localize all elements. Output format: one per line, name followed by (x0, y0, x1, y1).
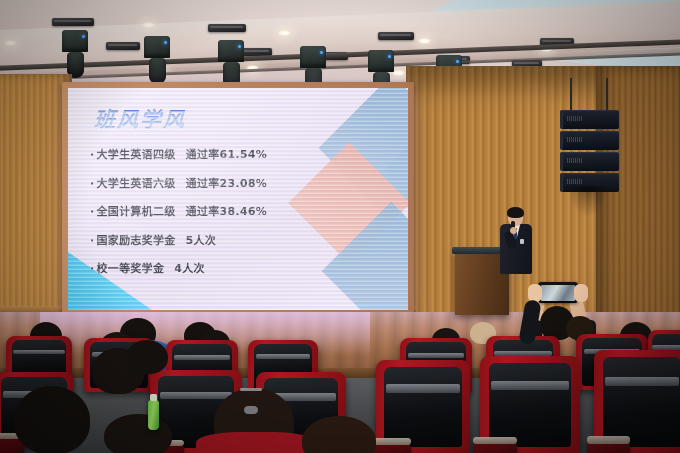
audience-shoulders-foreground (196, 432, 316, 453)
bottle-cap (150, 394, 157, 401)
bullet-label: 国家励志奖学金 (96, 234, 175, 247)
list-item: ·国家励志奖学金5人次 (90, 232, 360, 248)
smartphone-icon (538, 282, 578, 303)
bullet-label: 全国计算机二级 (96, 205, 175, 218)
ceiling-fixture-icon (106, 42, 140, 50)
filmer-hand-right (574, 284, 588, 302)
auditorium-seat (480, 356, 580, 453)
line-array-speaker (560, 78, 620, 188)
speaker-box (560, 110, 619, 129)
bullet-label: 校一等奖学金 (96, 262, 164, 275)
ceiling-fixture-icon (378, 32, 414, 40)
bullet-value: 通过率23.08% (186, 177, 268, 190)
downlight-icon (278, 30, 291, 36)
list-item: ·大学生英语六级通过率23.08% (90, 175, 360, 191)
presentation-slide: 班风学风 ·大学生英语四级通过率61.54% ·大学生英语六级通过率23.08%… (68, 88, 408, 310)
audience-person-foreground (14, 386, 90, 453)
list-item: ·大学生英语四级通过率61.54% (90, 146, 360, 162)
audience-person-foreground (104, 414, 172, 453)
bullet-marker: · (90, 262, 94, 275)
bullet-marker: · (90, 148, 94, 161)
bullet-marker: · (90, 177, 94, 190)
green-water-bottle (148, 400, 159, 430)
moving-head-light-icon (62, 30, 88, 78)
speaker-cable (570, 78, 572, 112)
phone-screen (541, 285, 575, 301)
bullet-value: 5人次 (186, 234, 217, 247)
speaker-box (560, 131, 619, 150)
bullet-value: 通过率38.46% (186, 205, 268, 218)
auditorium-photo: 班风学风 ·大学生英语四级通过率61.54% ·大学生英语六级通过率23.08%… (0, 0, 680, 453)
bullet-value: 通过率61.54% (186, 148, 268, 161)
slide-title: 班风学风 (94, 104, 186, 134)
downlight-icon (418, 38, 431, 44)
speaker-shadow (568, 186, 608, 216)
slide-content: 班风学风 ·大学生英语四级通过率61.54% ·大学生英语六级通过率23.08%… (68, 88, 408, 310)
presenter-hair (507, 207, 524, 218)
ceiling-fixture-icon (208, 24, 246, 32)
audience-person-foreground (126, 340, 168, 374)
speaker-cable (606, 78, 608, 112)
bullet-marker: · (90, 205, 94, 218)
list-item: ·全国计算机二级通过率38.46% (90, 203, 360, 219)
slide-bullet-list: ·大学生英语四级通过率61.54% ·大学生英语六级通过率23.08% ·全国计… (90, 146, 360, 289)
bullet-label: 大学生英语六级 (96, 177, 175, 190)
bullet-value: 4人次 (174, 262, 205, 275)
auditorium-seat (376, 360, 470, 453)
presenter-badge (520, 239, 524, 244)
auditorium-seat (594, 350, 680, 453)
presenter-hand (510, 227, 517, 234)
moving-head-light-icon (218, 40, 244, 88)
hair-clip (240, 388, 262, 391)
speaker-box (560, 152, 619, 171)
list-item: ·校一等奖学金4人次 (90, 260, 360, 276)
hair-tie (244, 406, 258, 414)
ceiling-fixture-icon (52, 18, 94, 26)
moving-head-light-icon (144, 36, 170, 84)
downlight-icon (4, 40, 17, 46)
bullet-marker: · (90, 234, 94, 247)
downlight-icon (142, 22, 155, 28)
bullet-label: 大学生英语四级 (96, 148, 175, 161)
